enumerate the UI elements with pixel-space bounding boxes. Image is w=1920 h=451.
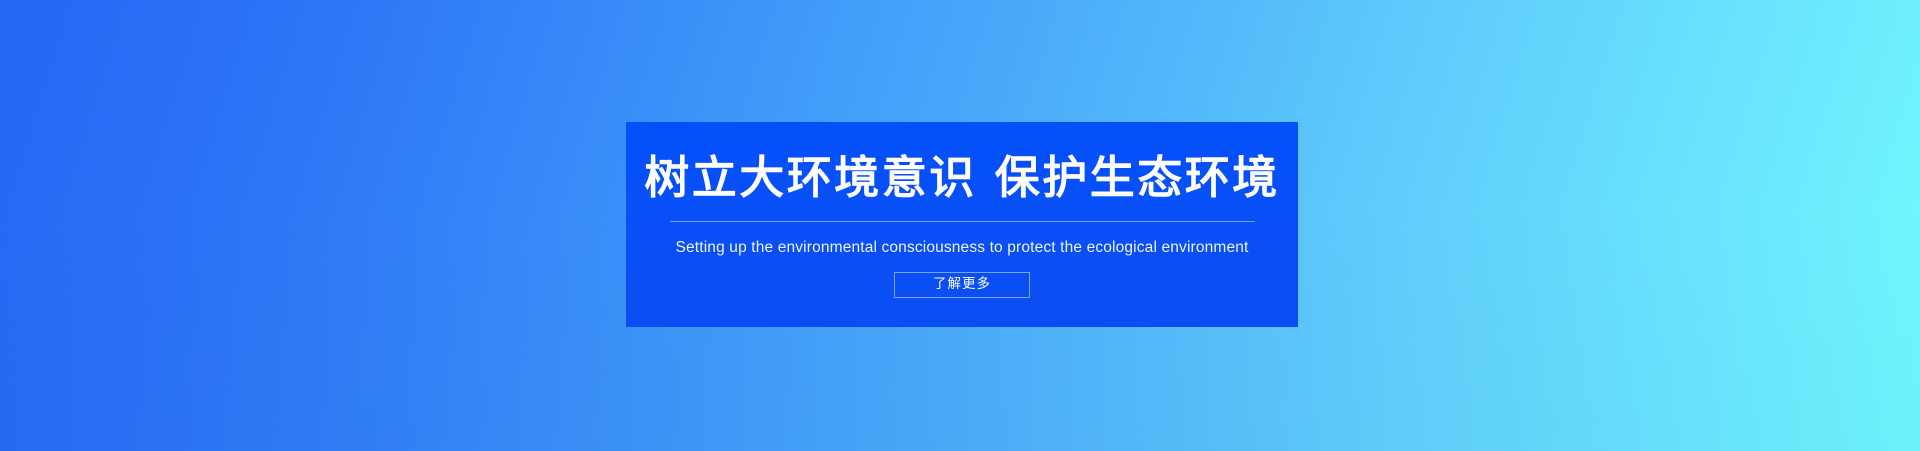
learn-more-button[interactable]: 了解更多: [894, 272, 1030, 298]
banner-content-panel: 树立大环境意识保护生态环境 Setting up the environment…: [626, 122, 1298, 327]
headline-phrase-secondary: 保护生态环境: [995, 151, 1280, 204]
hero-banner: 树立大环境意识保护生态环境 Setting up the environment…: [0, 0, 1920, 451]
banner-headline: 树立大环境意识保护生态环境: [644, 155, 1280, 200]
headline-phrase-primary: 树立大环境意识: [644, 151, 977, 204]
banner-subtitle: Setting up the environmental consciousne…: [676, 239, 1249, 257]
headline-divider: [670, 221, 1255, 222]
